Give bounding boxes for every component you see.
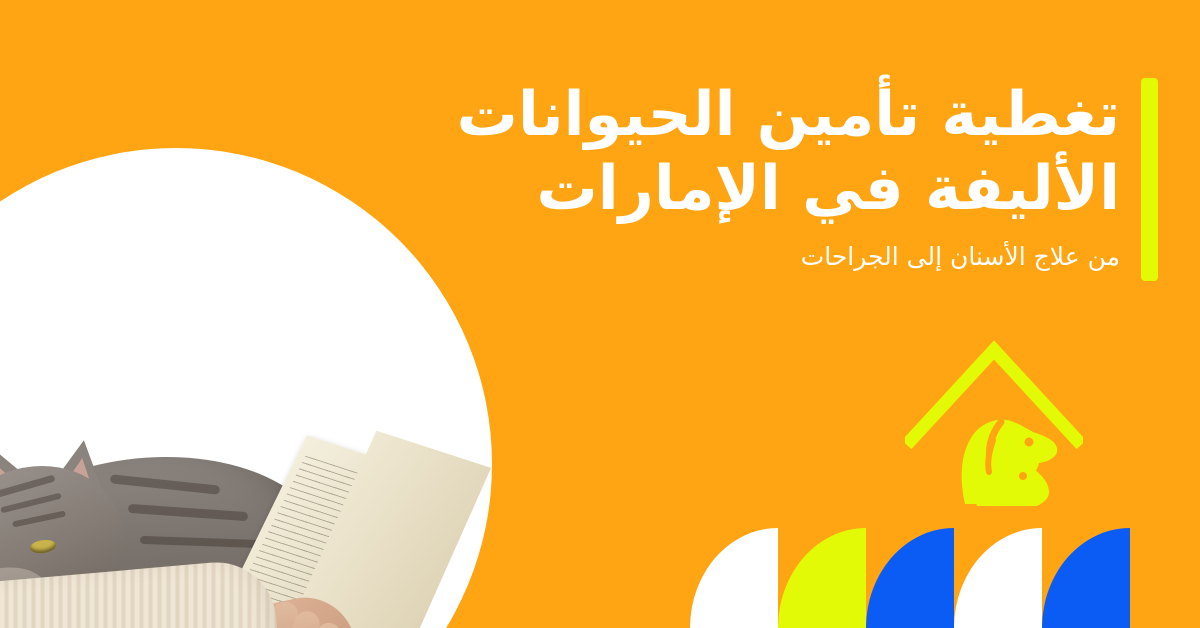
cat-eye (1019, 472, 1027, 480)
quarter-circle-2 (778, 528, 866, 628)
quarter-circle-1 (690, 528, 778, 628)
headline-line-2: الأليفة في الإمارات (400, 152, 1120, 226)
headline-block: تغطية تأمين الحيوانات الأليفة في الإمارا… (400, 78, 1120, 273)
quarter-circle-5 (1042, 528, 1130, 628)
decor-shape-row (0, 528, 1200, 628)
dog-eye (1025, 438, 1034, 447)
subtitle: من علاج الأسنان إلى الجراحات (400, 241, 1120, 274)
accent-bar (1141, 78, 1158, 281)
page-title: تغطية تأمين الحيوانات الأليفة في الإمارا… (400, 78, 1120, 227)
pet-insurance-banner: تغطية تأمين الحيوانات الأليفة في الإمارا… (0, 0, 1200, 628)
quarter-circle-4 (954, 528, 1042, 628)
quarter-circle-3 (866, 528, 954, 628)
headline-line-1: تغطية تأمين الحيوانات (457, 79, 1120, 150)
pet-house-logo (905, 336, 1083, 506)
